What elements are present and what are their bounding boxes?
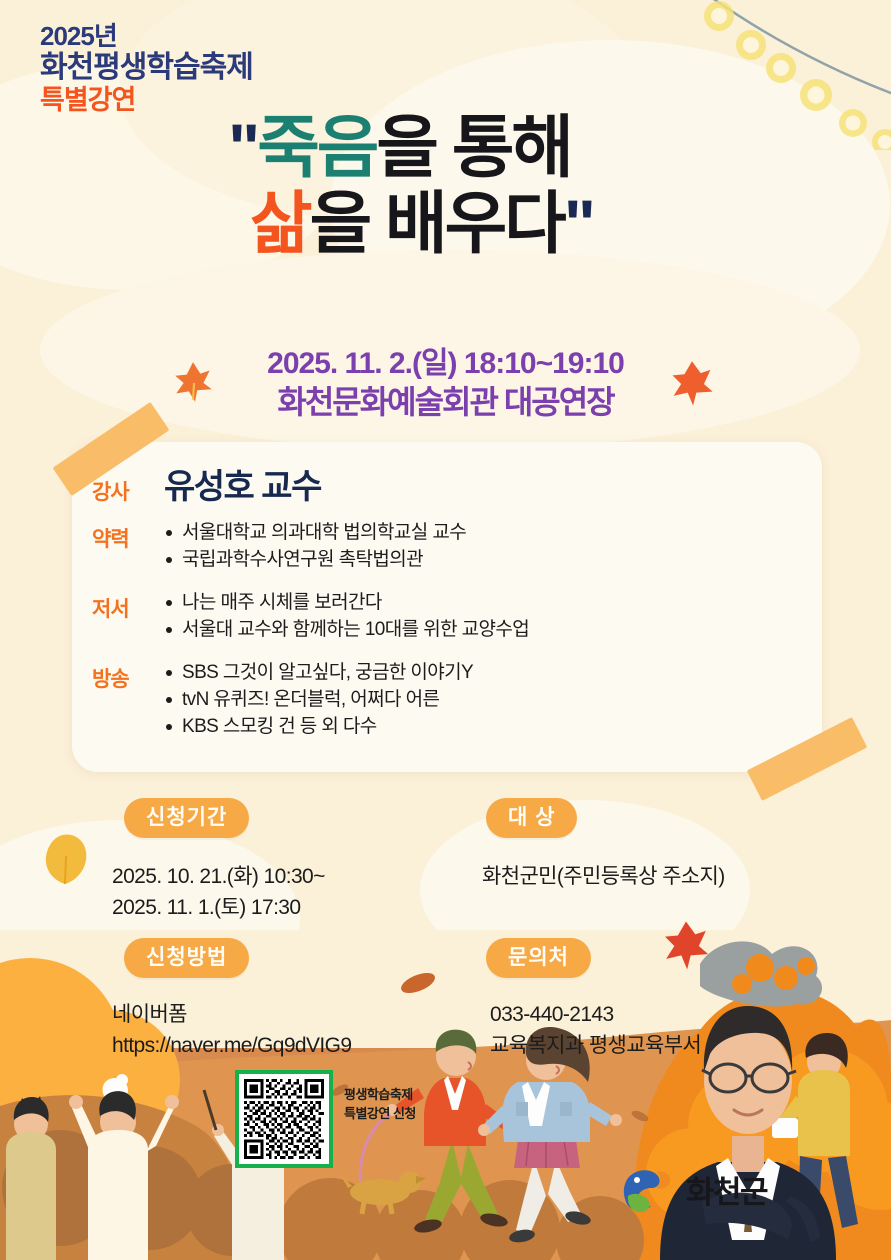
leaf-icon	[398, 968, 438, 998]
books-row: 저서 나는 매주 시체를 보러간다 서울대 교수와 함께하는 10대를 위한 교…	[92, 590, 652, 644]
books-list: 나는 매주 시체를 보러간다 서울대 교수와 함께하는 10대를 위한 교양수업	[164, 590, 529, 644]
qr-caption-line-2: 특별강연 신청	[344, 1105, 416, 1124]
pill-contact: 문의처	[486, 938, 591, 978]
event-date: 2025. 11. 2.(일) 18:10~19:10	[0, 345, 891, 383]
method-line-1: 네이버폼	[112, 1000, 351, 1031]
organization-name: 화천군	[686, 1167, 767, 1212]
header-year: 2025년	[40, 22, 340, 51]
label-books: 저서	[92, 590, 164, 623]
qr-code-image	[244, 1079, 324, 1159]
pill-target-audience: 대 상	[486, 798, 577, 838]
title-line-2: 삶을 배우다"	[250, 186, 868, 262]
broadcast-list: SBS 그것이 알고싶다, 궁금한 이야기Y tvN 유퀴즈! 온더블럭, 어쩌…	[164, 660, 473, 741]
main-title: "죽음을 통해 삶을 배우다"	[228, 110, 868, 262]
list-item: tvN 유퀴즈! 온더블럭, 어쩌다 어른	[164, 687, 473, 714]
pill-application-method: 신청방법	[124, 938, 249, 978]
period-line-2: 2025. 11. 1.(토) 17:30	[112, 893, 325, 924]
qr-caption: 평생학습축제 특별강연 신청	[344, 1086, 416, 1124]
close-quote: "	[564, 186, 593, 262]
label-career: 약력	[92, 520, 164, 553]
poster-header: 2025년 화천평생학습축제 특별강연	[40, 22, 340, 115]
header-festival-name: 화천평생학습축제	[40, 51, 340, 85]
list-item: KBS 스모킹 건 등 외 다수	[164, 714, 473, 741]
title-line-1: "죽음을 통해	[228, 110, 868, 186]
event-datetime-block: 2025. 11. 2.(일) 18:10~19:10 화천문화예술회관 대공연…	[0, 345, 891, 421]
broadcast-row: 방송 SBS 그것이 알고싶다, 궁금한 이야기Y tvN 유퀴즈! 온더블럭,…	[92, 660, 652, 741]
speaker-card-content: 강사 유성호 교수 약력 서울대학교 의과대학 법의학교실 교수 국립과학수사연…	[92, 470, 652, 743]
label-broadcast: 방송	[92, 660, 164, 693]
application-method-value: 네이버폼 https://naver.me/Gq9dVIG9	[112, 1000, 351, 1061]
list-item: SBS 그것이 알고싶다, 궁금한 이야기Y	[164, 660, 473, 687]
label-speaker: 강사	[92, 470, 164, 506]
title-word-life: 삶	[250, 186, 310, 262]
application-url[interactable]: https://naver.me/Gq9dVIG9	[112, 1031, 351, 1062]
title-line1-rest: 을 통해	[376, 110, 571, 186]
list-item: 서울대 교수와 함께하는 10대를 위한 교양수업	[164, 617, 529, 644]
title-word-death: 죽음	[257, 110, 376, 186]
list-item: 서울대학교 의과대학 법의학교실 교수	[164, 520, 466, 547]
application-period-value: 2025. 10. 21.(화) 10:30~ 2025. 11. 1.(토) …	[112, 862, 325, 923]
period-line-1: 2025. 10. 21.(화) 10:30~	[112, 862, 325, 893]
speaker-row: 강사 유성호 교수	[92, 470, 652, 506]
poster-root: 2025년 화천평생학습축제 특별강연 "죽음을 통해 삶을 배우다" 2025…	[0, 0, 891, 1260]
title-line2-rest: 을 배우다	[310, 186, 564, 262]
career-row: 약력 서울대학교 의과대학 법의학교실 교수 국립과학수사연구원 촉탁법의관	[92, 520, 652, 574]
organization-logo: 화천군	[618, 1162, 767, 1216]
hwacheon-fish-logo-icon	[618, 1162, 672, 1216]
open-quote: "	[228, 110, 257, 186]
pill-application-period: 신청기간	[124, 798, 249, 838]
ginkgo-leaf-icon	[36, 828, 94, 890]
speaker-name: 유성호 교수	[164, 470, 321, 504]
career-list: 서울대학교 의과대학 법의학교실 교수 국립과학수사연구원 촉탁법의관	[164, 520, 466, 574]
list-item: 국립과학수사연구원 촉탁법의관	[164, 547, 466, 574]
list-item: 나는 매주 시체를 보러간다	[164, 590, 529, 617]
qr-caption-line-1: 평생학습축제	[344, 1086, 416, 1105]
qr-code[interactable]	[235, 1070, 333, 1168]
target-audience-value: 화천군민(주민등록상 주소지)	[482, 862, 725, 893]
